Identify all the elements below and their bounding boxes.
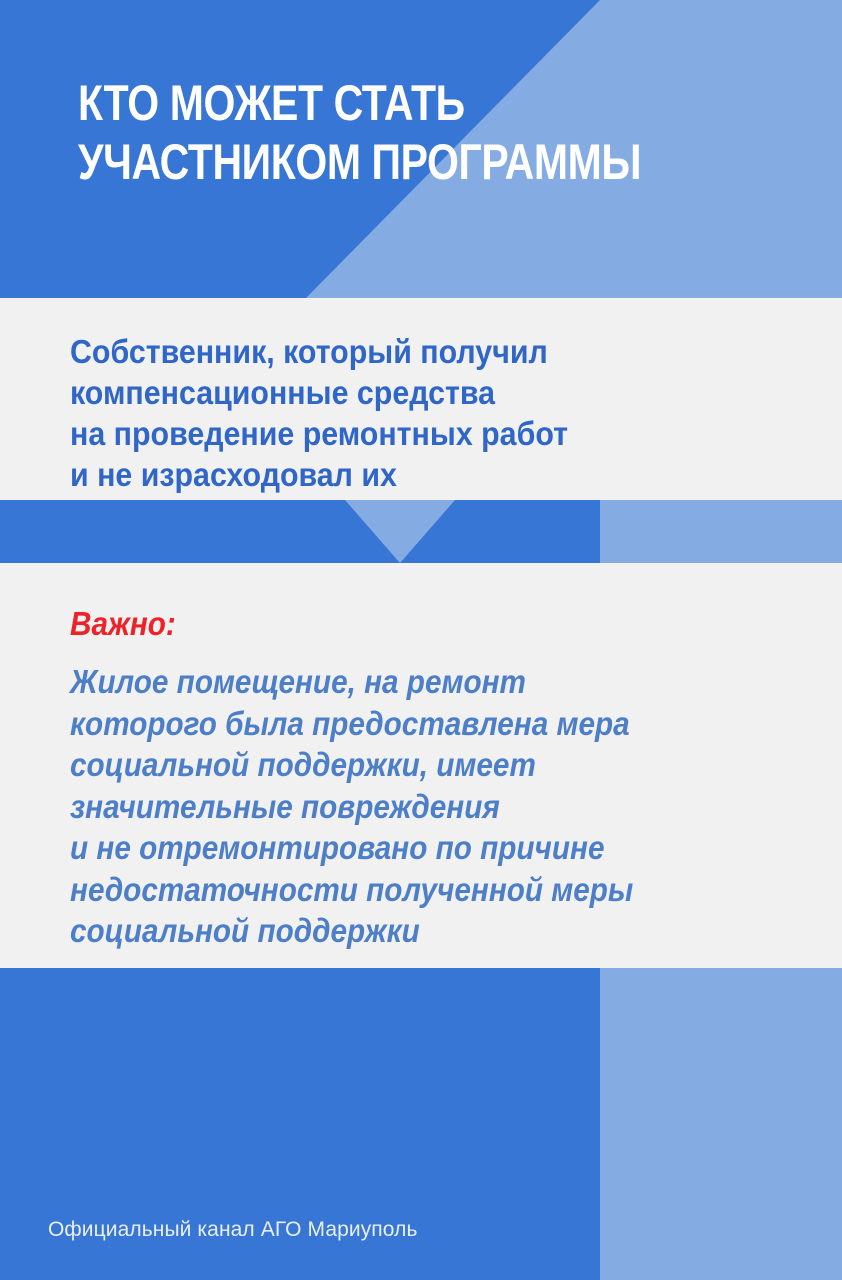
infographic-poster: КТО МОЖЕТ СТАТЬ УЧАСТНИКОМ ПРОГРАММЫ Соб… [0,0,842,1280]
footer-banner: Официальный канал АГО Мариуполь [0,968,842,1280]
important-note-block: Важно: Жилое помещение, на ремонт которо… [0,563,842,968]
page-title: КТО МОЖЕТ СТАТЬ УЧАСТНИКОМ ПРОГРАММЫ [78,74,652,191]
footer-channel-caption: Официальный канал АГО Мариуполь [48,1218,418,1242]
main-statement-block: Собственник, который получил компенсацио… [0,298,842,500]
important-note-text: Жилое помещение, на ремонт которого была… [70,661,754,952]
down-chevron-icon [0,500,842,563]
arrow-divider-band [0,500,842,563]
header-banner: КТО МОЖЕТ СТАТЬ УЧАСТНИКОМ ПРОГРАММЫ [0,0,842,298]
important-label: Важно: [70,605,176,643]
main-statement-text: Собственник, который получил компенсацио… [70,332,751,496]
